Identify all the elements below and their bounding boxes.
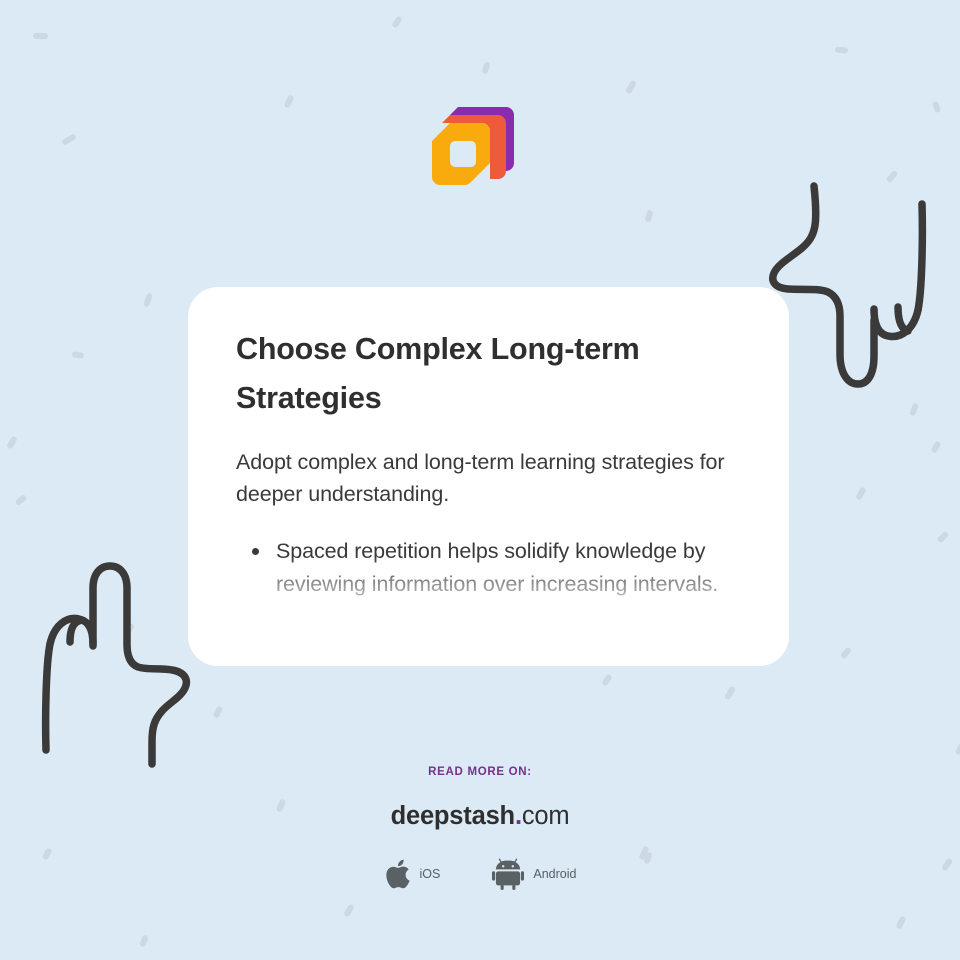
confetti-mark (143, 292, 153, 307)
confetti-mark (72, 351, 85, 359)
store-badges: iOS Android (0, 858, 960, 890)
confetti-mark (886, 170, 899, 184)
confetti-mark (932, 101, 941, 113)
confetti-mark (343, 903, 355, 917)
card-title: Choose Complex Long-term Strategies (236, 325, 741, 424)
confetti-mark (909, 402, 919, 416)
android-store-badge[interactable]: Android (492, 858, 576, 890)
confetti-mark (61, 133, 77, 146)
confetti-mark (391, 15, 403, 28)
confetti-mark (835, 46, 848, 53)
confetti-mark (481, 61, 490, 74)
footer: READ MORE ON: deepstash.com iOS Android (0, 766, 960, 890)
android-label: Android (533, 867, 576, 881)
site-dot: . (515, 802, 522, 830)
idea-card: Choose Complex Long-term Strategies Adop… (188, 287, 789, 666)
confetti-mark (840, 646, 852, 659)
apple-icon (384, 858, 411, 890)
confetti-mark (724, 685, 736, 700)
confetti-mark (645, 209, 654, 222)
confetti-mark (625, 79, 637, 94)
confetti-mark (937, 531, 950, 544)
confetti-mark (284, 94, 295, 108)
confetti-mark (139, 934, 149, 947)
card-bullet-list: Spaced repetition helps solidify knowled… (236, 535, 741, 601)
android-icon (492, 858, 524, 890)
ios-label: iOS (420, 867, 441, 881)
confetti-mark (14, 494, 27, 506)
card-content: Choose Complex Long-term Strategies Adop… (188, 287, 789, 601)
confetti-mark (955, 742, 960, 755)
list-item: Spaced repetition helps solidify knowled… (236, 535, 741, 601)
pointing-hand-down-icon (762, 178, 960, 398)
site-name: deepstash (391, 802, 515, 830)
confetti-mark (930, 440, 941, 453)
card-subtitle: Adopt complex and long-term learning str… (236, 446, 741, 511)
read-more-label: READ MORE ON: (0, 766, 960, 778)
confetti-mark (855, 486, 867, 500)
site-wordmark[interactable]: deepstash.com (0, 802, 960, 831)
deepstash-logo-icon (428, 103, 520, 195)
confetti-mark (213, 705, 224, 718)
confetti-mark (895, 915, 906, 929)
confetti-mark (33, 33, 48, 40)
site-tld: com (522, 802, 570, 830)
confetti-mark (123, 622, 135, 636)
confetti-mark (6, 435, 18, 449)
confetti-mark (601, 673, 613, 686)
ios-store-badge[interactable]: iOS (384, 858, 441, 890)
